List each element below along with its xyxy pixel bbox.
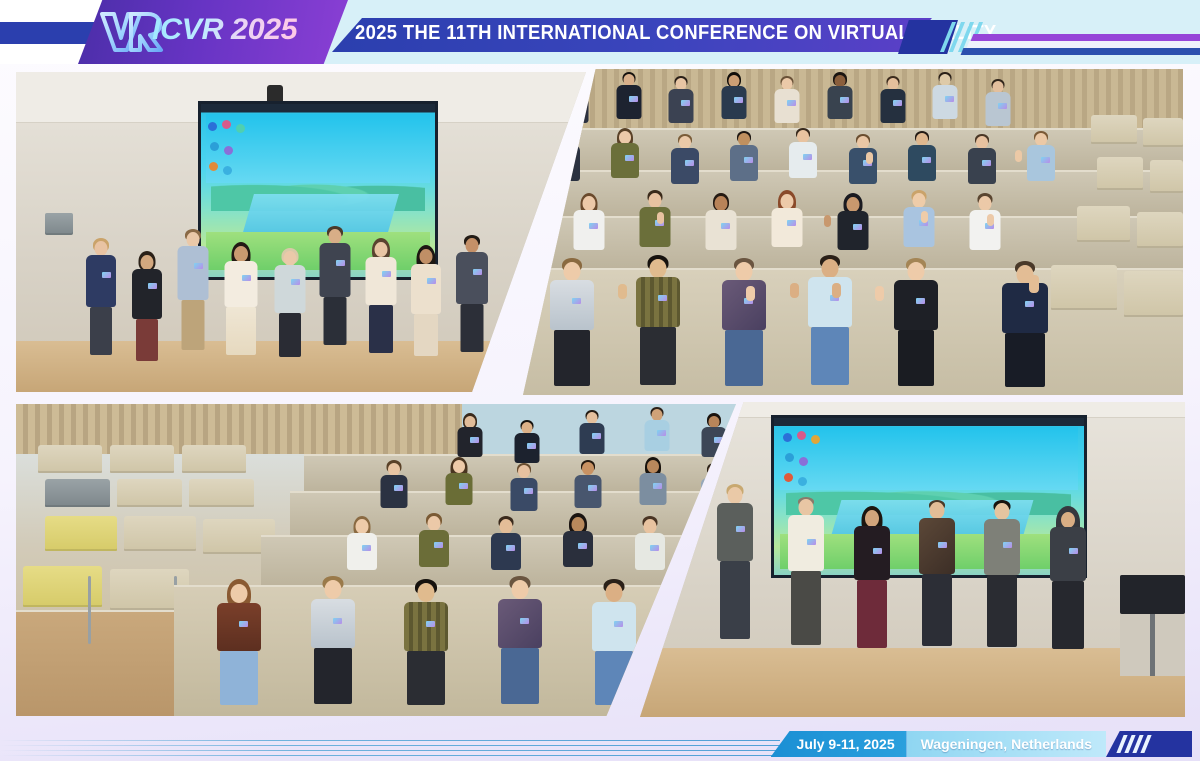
photo-bottom-right (640, 402, 1185, 717)
footer-decoration-lines (0, 735, 880, 757)
footer-banner: July 9-11, 2025 Wageningen, Netherlands (771, 731, 1192, 757)
footer-end-decoration-icon (1106, 731, 1192, 757)
header-stripe-purple (971, 34, 1200, 41)
header-stripe-blue (961, 48, 1200, 55)
conference-location: Wageningen, Netherlands (907, 731, 1106, 757)
photo-top-right (523, 69, 1183, 395)
photo-bottom-left (16, 404, 736, 716)
page-header: ICVR 2025 2025 THE 11TH INTERNATIONAL CO… (0, 0, 1200, 64)
photo-top-left (16, 72, 586, 392)
header-logo-text: ICVR 2025 (152, 13, 297, 47)
page-footer: July 9-11, 2025 Wageningen, Netherlands (0, 721, 1200, 761)
header-stripe-white (967, 41, 1200, 48)
photo-collage (0, 64, 1200, 724)
conference-title: 2025 THE 11TH INTERNATIONAL CONFERENCE O… (355, 22, 879, 45)
conference-photo-collage-page: ICVR 2025 2025 THE 11TH INTERNATIONAL CO… (0, 0, 1200, 761)
conference-date: July 9-11, 2025 (771, 731, 907, 757)
